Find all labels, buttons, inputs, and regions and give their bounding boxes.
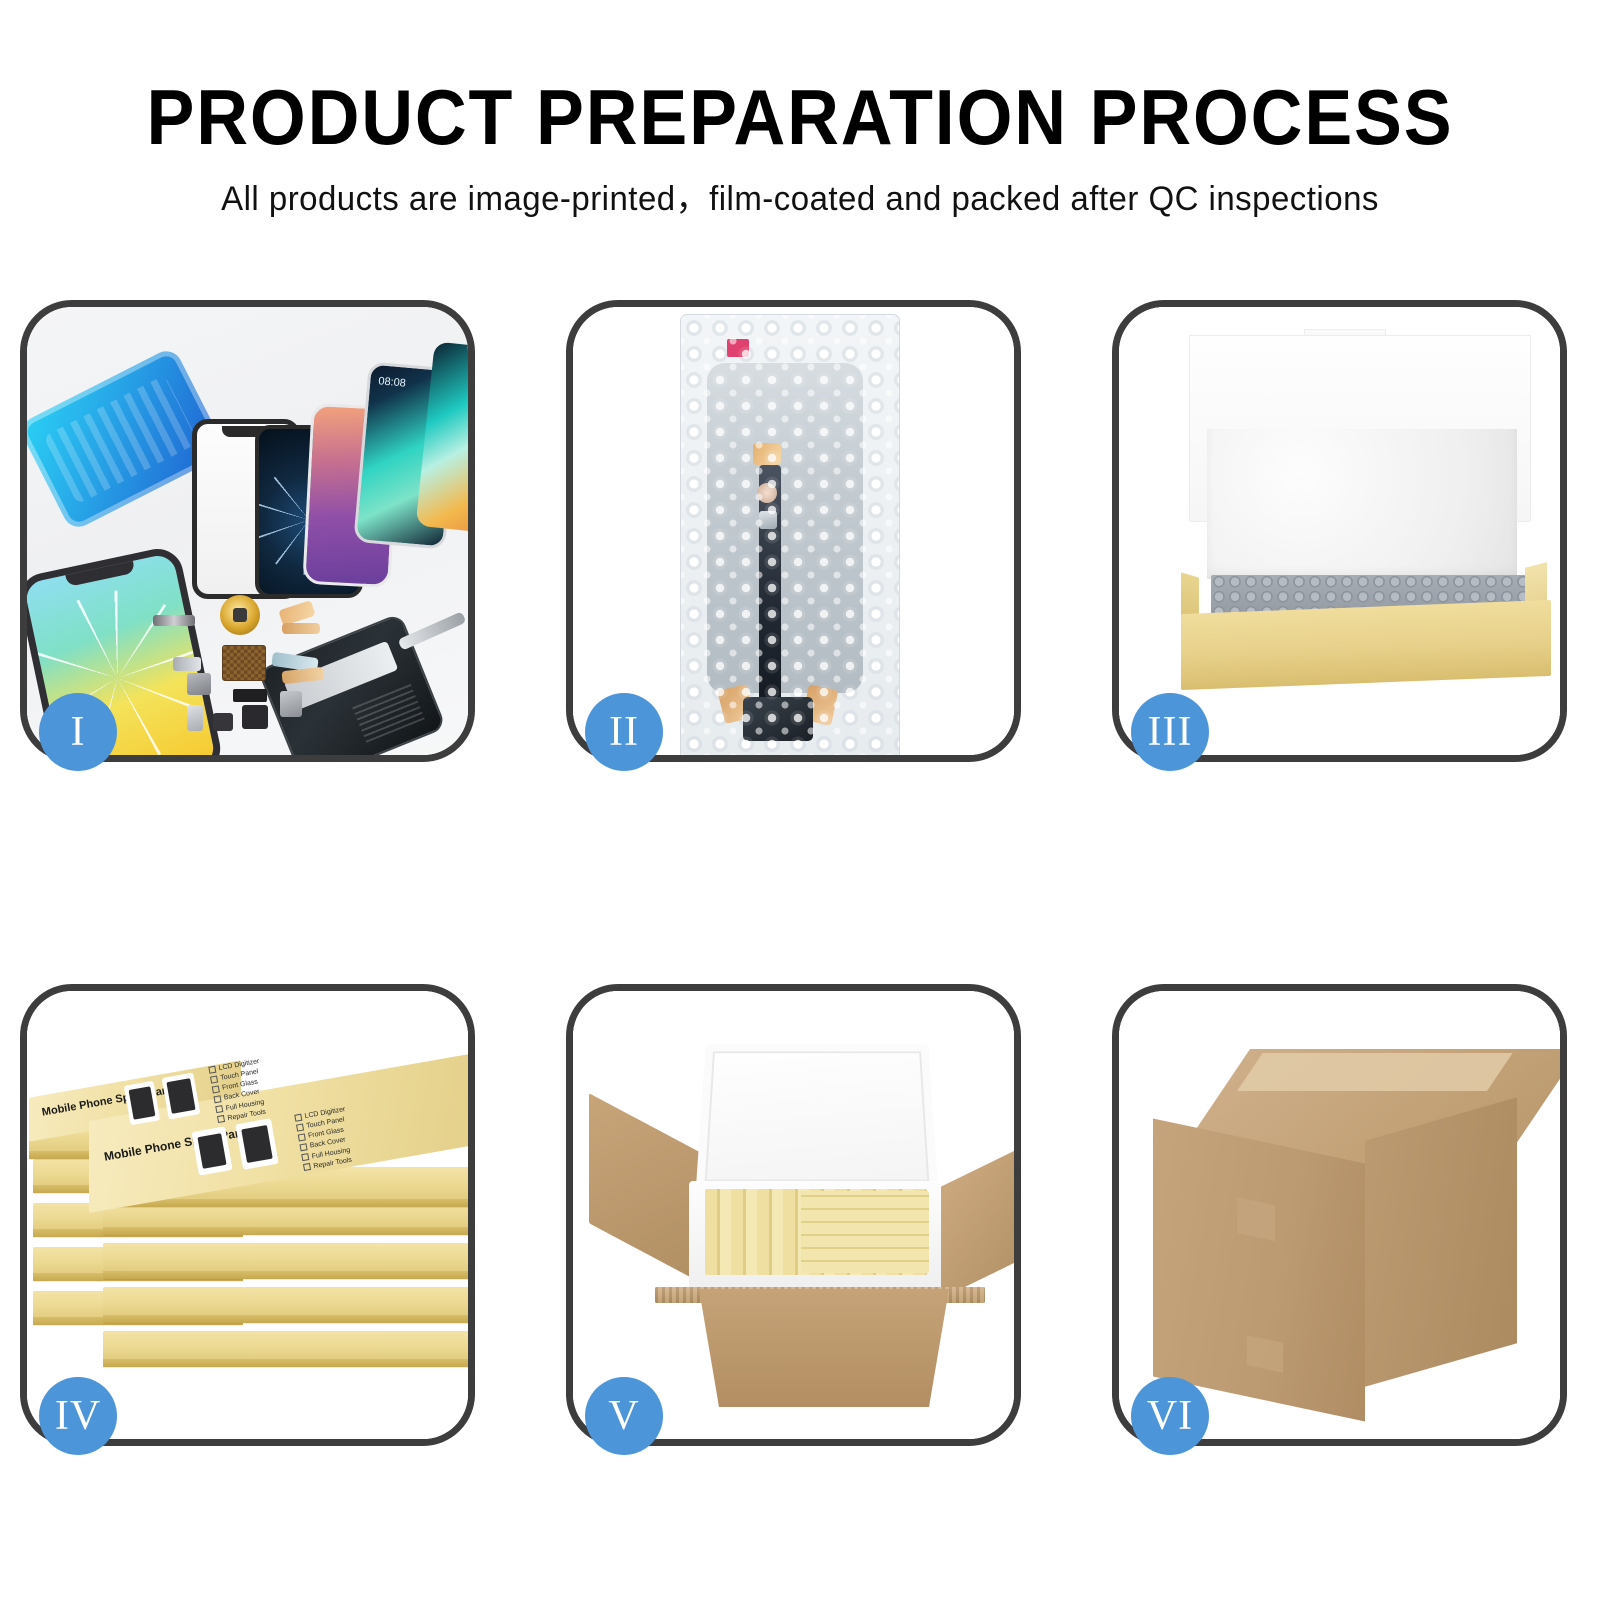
carton-front-face-icon: [1153, 1118, 1365, 1421]
carton-flap-left-icon: [589, 1093, 701, 1283]
step-badge-1: I: [39, 693, 117, 771]
packing-tape-icon: [1237, 1053, 1513, 1091]
gold-box-r3: [103, 1243, 468, 1279]
ic-chip-icon: [222, 645, 266, 681]
foam-lid-icon: [696, 1044, 938, 1190]
step-5-image: [573, 991, 1014, 1439]
step-badge-5: V: [585, 1377, 663, 1455]
retail-box-product-photo-2: [235, 1118, 278, 1170]
step-badge-6: VI: [1131, 1377, 1209, 1455]
flex-cable-a-icon: [278, 600, 315, 626]
step-panel-3[interactable]: III: [1112, 300, 1567, 762]
foam-sheet-icon: [1207, 429, 1517, 579]
process-row-top: I: [0, 300, 1600, 770]
page-subtitle: All products are image-printed，film-coat…: [24, 156, 1576, 216]
earpiece-speaker-icon: [153, 615, 195, 626]
connector-3-icon: [759, 511, 777, 529]
flex-cable-b-icon: [282, 623, 320, 634]
step-panel-1[interactable]: I: [20, 300, 475, 762]
step-3-image: [1119, 307, 1560, 755]
carton-side-face-icon: [1365, 1097, 1517, 1387]
yellow-box-front-icon: [1181, 600, 1551, 690]
step-badge-4: IV: [39, 1377, 117, 1455]
step-panel-5[interactable]: V: [566, 984, 1021, 1446]
step-badge-3: III: [1131, 693, 1209, 771]
sim-tray-icon: [187, 705, 203, 731]
step-panel-4[interactable]: Mobile Phone Spare Parts Mobile Phone Sp…: [20, 984, 475, 1446]
page-title: PRODUCT PREPARATION PROCESS: [64, 0, 1536, 156]
small-part-5-icon: [280, 691, 302, 717]
retail-box-checklist-a: LCD Digitizer Touch Panel Front Glass Ba…: [208, 1057, 269, 1126]
small-part-4-icon: [242, 705, 268, 729]
step-panel-2[interactable]: II: [566, 300, 1021, 762]
gold-box-r5: [103, 1331, 468, 1367]
bubble-wrap-illustration: [573, 307, 1014, 755]
gold-box-r4: [103, 1287, 468, 1323]
packed-gold-boxes-2-icon: [801, 1191, 929, 1273]
step-panel-6[interactable]: VI: [1112, 984, 1567, 1446]
small-part-2-icon: [187, 673, 211, 695]
retail-box-product-photo-1: [191, 1126, 232, 1175]
phone-parts-collage-illustration: [27, 307, 468, 755]
carton-body-icon: [699, 1289, 949, 1407]
small-part-6-icon: [213, 713, 233, 731]
connector-2-icon: [757, 483, 777, 503]
step-2-image: [573, 307, 1014, 755]
connector-1-icon: [753, 443, 781, 465]
gold-box-stack-illustration: Mobile Phone Spare Parts Mobile Phone Sp…: [27, 991, 468, 1439]
bubble-wrap-bag: [681, 315, 899, 755]
step-4-image: Mobile Phone Spare Parts Mobile Phone Sp…: [27, 991, 468, 1439]
process-row-bottom: Mobile Phone Spare Parts Mobile Phone Sp…: [0, 984, 1600, 1454]
small-part-3-icon: [233, 689, 267, 702]
carton-with-foam-illustration: [573, 991, 1014, 1439]
sealed-carton-illustration: [1119, 991, 1560, 1439]
page-header: PRODUCT PREPARATION PROCESS All products…: [0, 0, 1600, 216]
step-6-image: [1119, 991, 1560, 1439]
wireless-charging-coil-icon: [220, 595, 260, 635]
step-badge-2: II: [585, 693, 663, 771]
small-part-1-icon: [173, 657, 201, 671]
lcd-assembly-icon: [707, 363, 863, 693]
bottom-module-icon: [743, 697, 813, 741]
step-1-image: [27, 307, 468, 755]
retail-box-checklist-b: LCD Digitizer Touch Panel Front Glass Ba…: [294, 1105, 355, 1174]
open-yellow-box-illustration: [1119, 307, 1560, 755]
red-qc-sticker-icon: [727, 339, 749, 357]
